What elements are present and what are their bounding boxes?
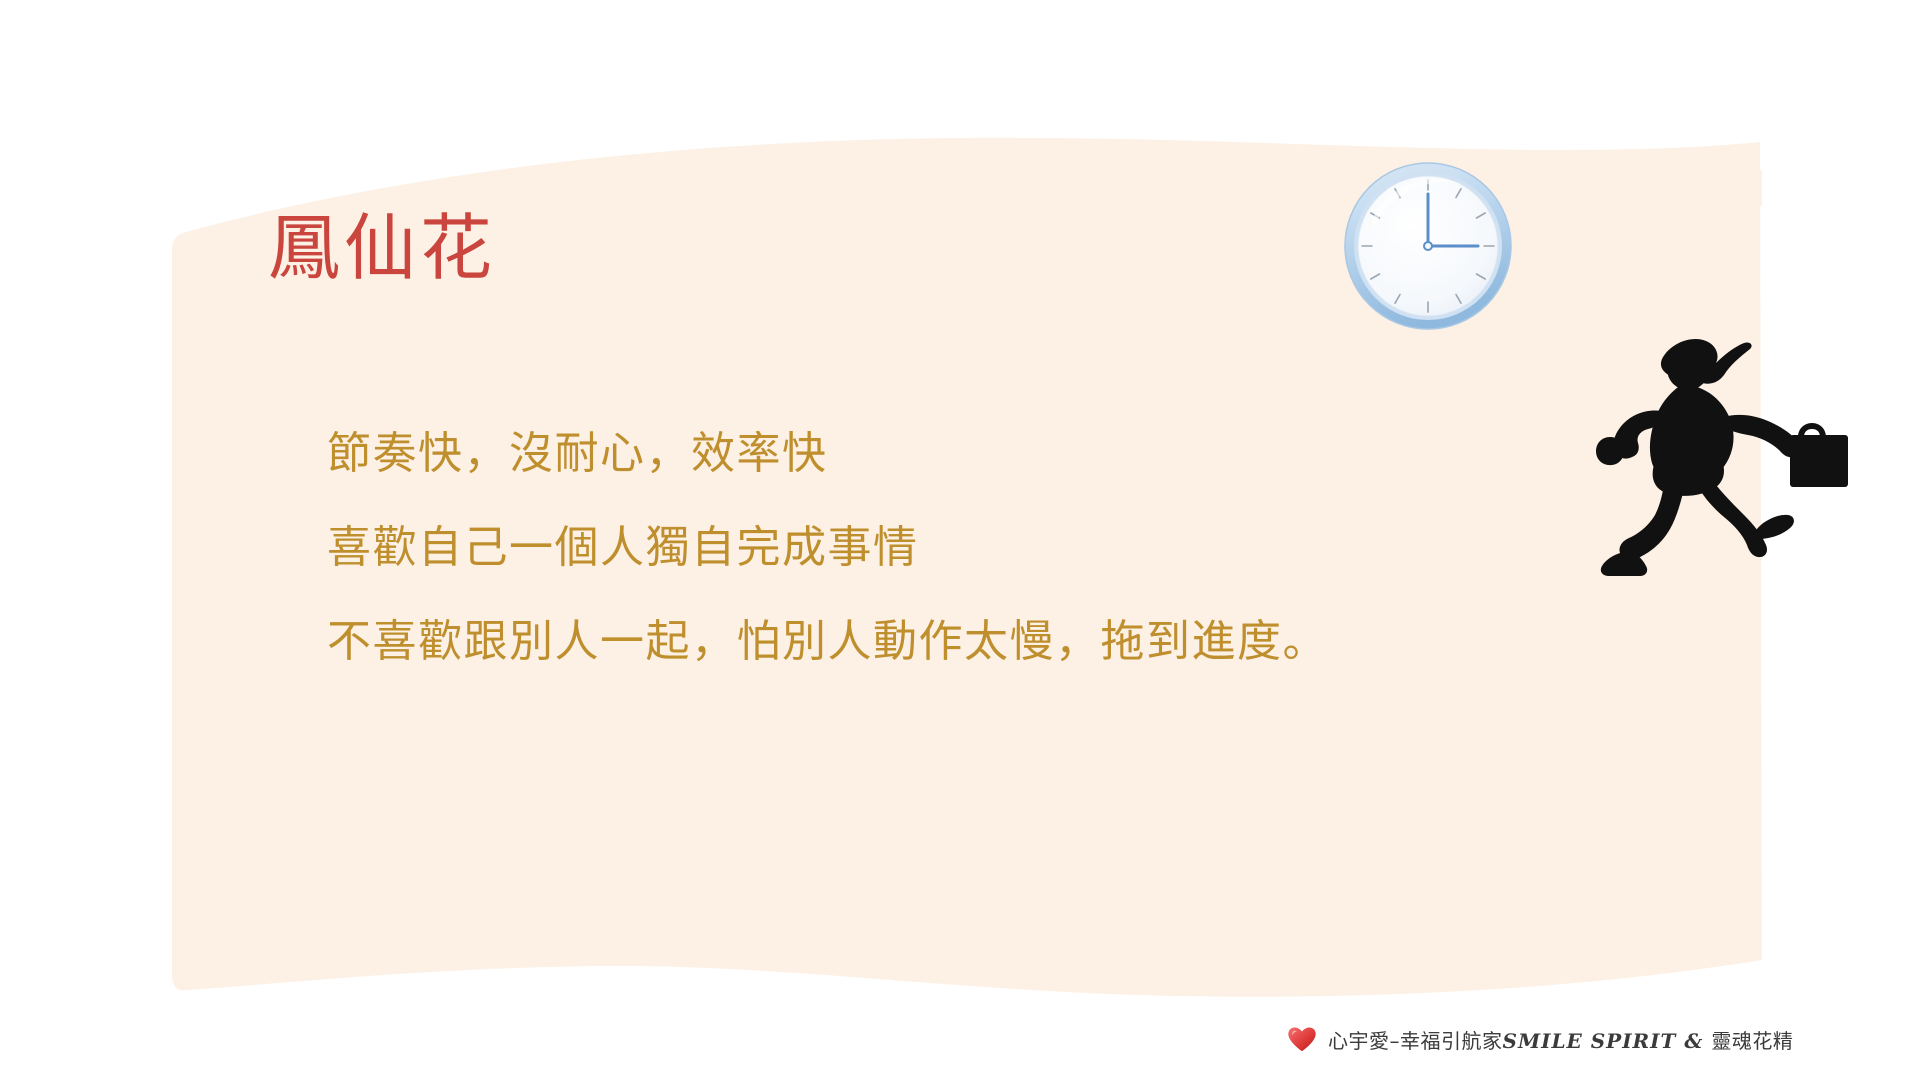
footer-text: 心宇愛–幸福引航家SMILE SPIRIT & 靈魂花精 bbox=[1328, 1025, 1793, 1054]
footer-text-amp: & bbox=[1676, 1029, 1711, 1053]
slide-canvas: 鳳仙花 節奏快，沒耐心，效率快 喜歡自己一個人獨自完成事情 不喜歡跟別人一起，怕… bbox=[0, 0, 1920, 1080]
body-text-block: 節奏快，沒耐心，效率快 喜歡自己一個人獨自完成事情 不喜歡跟別人一起，怕別人動作… bbox=[327, 432, 1687, 664]
body-line-2: 喜歡自己一個人獨自完成事情 bbox=[327, 526, 1687, 570]
body-line-1: 節奏快，沒耐心，效率快 bbox=[327, 432, 1687, 476]
footer-text-cn-2: 靈魂花精 bbox=[1711, 1029, 1793, 1053]
page-title: 鳳仙花 bbox=[268, 212, 496, 284]
heart-icon bbox=[1285, 1022, 1319, 1056]
body-line-3: 不喜歡跟別人一起，怕別人動作太慢，拖到進度。 bbox=[327, 620, 1687, 664]
running-businesswoman-silhouette bbox=[1510, 325, 1910, 585]
wall-clock-icon bbox=[1342, 160, 1514, 332]
footer-text-cn-1: 心宇愛–幸福引航家 bbox=[1328, 1029, 1503, 1053]
footer-watermark: 心宇愛–幸福引航家SMILE SPIRIT & 靈魂花精 bbox=[1285, 1022, 1793, 1056]
footer-text-brand: SMILE SPIRIT bbox=[1503, 1029, 1677, 1053]
